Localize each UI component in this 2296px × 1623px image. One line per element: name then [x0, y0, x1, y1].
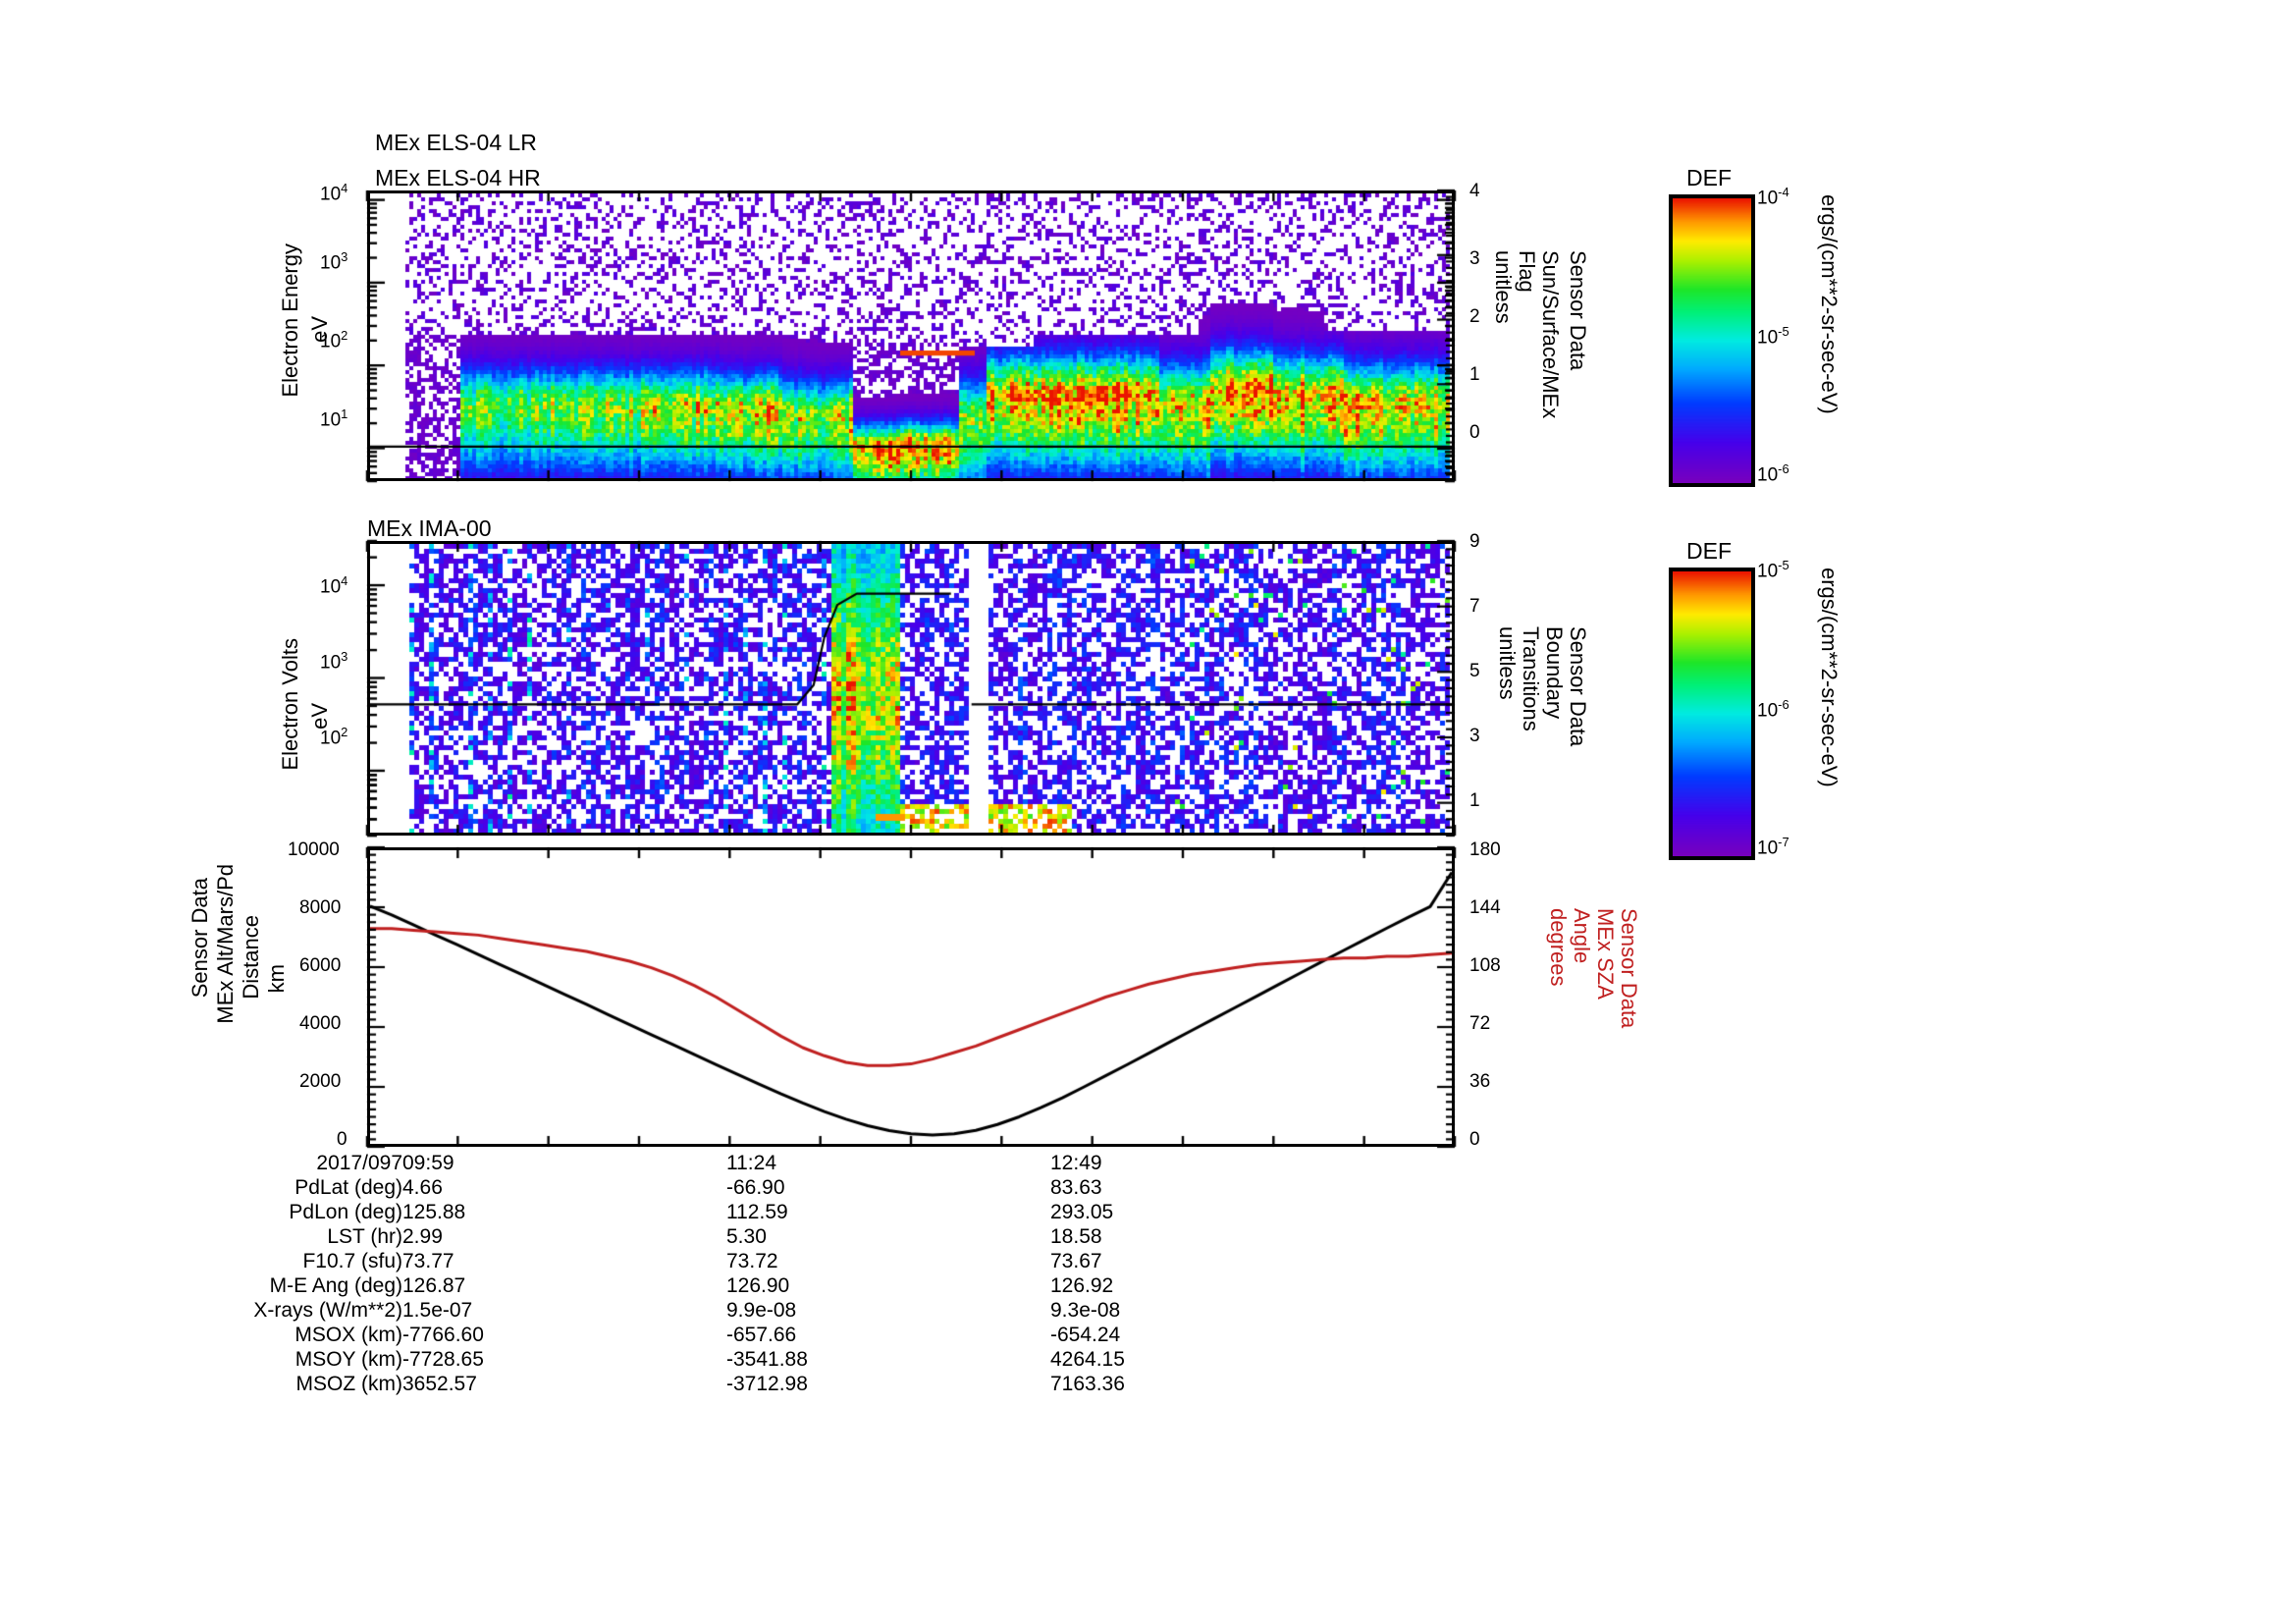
- colorbar1-title: DEF: [1686, 165, 1732, 191]
- table-cell: -657.66: [726, 1323, 1050, 1347]
- panel3-y2tick-144: 144: [1469, 897, 1501, 919]
- table-row: PdLat (deg)4.66-66.9083.63: [206, 1175, 1374, 1200]
- panel2-y2tick-5: 5: [1469, 661, 1480, 682]
- colorbar2-min-label: 10-7: [1757, 835, 1789, 859]
- table-row: PdLon (deg)125.88112.59293.05: [206, 1200, 1374, 1224]
- panel2-title: MEx IMA-00: [367, 515, 492, 542]
- table-cell: 2.99: [402, 1224, 726, 1249]
- panel3-y2label-line3: Angle: [1571, 908, 1593, 963]
- panel3-y2tick-36: 36: [1469, 1071, 1490, 1093]
- table-row-label: PdLon (deg): [206, 1200, 402, 1224]
- table-row: 2017/09709:5911:2412:49: [206, 1151, 1374, 1175]
- colorbar2-units: ergs/(cm**2-sr-sec-eV): [1818, 568, 1841, 787]
- panel3-y2tick-0: 0: [1469, 1129, 1480, 1151]
- panel1-y2label-line2: Sun/Surface/MEx: [1539, 250, 1562, 418]
- table-cell: 73.72: [726, 1249, 1050, 1273]
- panel2-y2tick-9: 9: [1469, 531, 1480, 553]
- table-cell: 1.5e-07: [402, 1298, 726, 1323]
- table-cell: 9.3e-08: [1050, 1298, 1374, 1323]
- table-cell: 09:59: [402, 1151, 726, 1175]
- panel2-y2tick-3: 3: [1469, 726, 1480, 747]
- colorbar2-mid-label: 10-6: [1757, 697, 1789, 722]
- table-row-label: M-E Ang (deg): [206, 1273, 402, 1298]
- panel3-ytick-4000: 4000: [299, 1013, 341, 1035]
- table-row-label: LST (hr): [206, 1224, 402, 1249]
- panel3-ylabel-line1: Sensor Data: [188, 878, 211, 998]
- panel2-ylabel-line1: Electron Volts: [279, 638, 301, 771]
- panel1-y2label-line1: Sensor Data: [1567, 250, 1589, 370]
- panel3-y2label-line4: degrees: [1547, 908, 1570, 987]
- panel2-y2label-line1: Sensor Data: [1567, 626, 1589, 746]
- table-cell: 125.88: [402, 1200, 726, 1224]
- panel2-y2label-line4: unitless: [1496, 626, 1519, 700]
- table-row: MSOZ (km)3652.57-3712.987163.36: [206, 1372, 1374, 1396]
- panel3-y2tick-180: 180: [1469, 839, 1501, 861]
- colorbar1-max-label: 10-4: [1757, 185, 1789, 209]
- colorbar1-gradient: [1669, 194, 1755, 487]
- table-row-label: F10.7 (sfu): [206, 1249, 402, 1273]
- panel3-ytick-2000: 2000: [299, 1071, 341, 1093]
- table-cell: 293.05: [1050, 1200, 1374, 1224]
- table-row: M-E Ang (deg)126.87126.90126.92: [206, 1273, 1374, 1298]
- panel2-ytick-1e2: 102: [320, 725, 347, 749]
- table-cell: 4.66: [402, 1175, 726, 1200]
- panel3-line-plot: [370, 850, 1452, 1144]
- colorbar2-title: DEF: [1686, 538, 1732, 565]
- table-cell: 11:24: [726, 1151, 1050, 1175]
- table-row-label: MSOY (km): [206, 1347, 402, 1372]
- table-cell: 73.77: [402, 1249, 726, 1273]
- panel1-ytick-1e1: 101: [320, 406, 347, 431]
- panel2-y2label-line2: Boundary: [1543, 626, 1566, 719]
- panel2-ytick-1e4: 104: [320, 573, 347, 598]
- table-row: LST (hr)2.995.3018.58: [206, 1224, 1374, 1249]
- colorbar1-min-label: 10-6: [1757, 461, 1789, 486]
- table-cell: 5.30: [726, 1224, 1050, 1249]
- table-cell: 126.90: [726, 1273, 1050, 1298]
- table-cell: 3652.57: [402, 1372, 726, 1396]
- panel3-ytick-0: 0: [337, 1129, 347, 1151]
- panel3-ylabel-line2: MEx Alt/Mars/Pd: [214, 864, 237, 1024]
- table-cell: 73.67: [1050, 1249, 1374, 1273]
- panel1-ylabel-line1: Electron Energy: [279, 243, 301, 398]
- table-row-label: MSOZ (km): [206, 1372, 402, 1396]
- panel3-y2label-line1: Sensor Data: [1618, 908, 1640, 1028]
- table-cell: 83.63: [1050, 1175, 1374, 1200]
- panel3-y2tick-108: 108: [1469, 955, 1501, 977]
- table-cell: -3712.98: [726, 1372, 1050, 1396]
- table-cell: -654.24: [1050, 1323, 1374, 1347]
- table-cell: 4264.15: [1050, 1347, 1374, 1372]
- panel2-spectrogram: [370, 544, 1452, 833]
- colorbar1-mid-label: 10-5: [1757, 324, 1789, 349]
- table-cell: 112.59: [726, 1200, 1050, 1224]
- panel3-ytick-10000: 10000: [288, 839, 340, 861]
- panel3-y2label-line2: MEx SZA: [1594, 908, 1617, 1000]
- panel3-y2tick-72: 72: [1469, 1013, 1490, 1035]
- panel1-y2tick-3: 3: [1469, 248, 1480, 270]
- table-cell: -7766.60: [402, 1323, 726, 1347]
- table-row-label: MSOX (km): [206, 1323, 402, 1347]
- table-row-label: X-rays (W/m**2): [206, 1298, 402, 1323]
- table-row: F10.7 (sfu)73.7773.7273.67: [206, 1249, 1374, 1273]
- panel2-y2tick-1: 1: [1469, 790, 1480, 812]
- colorbar2-max-label: 10-5: [1757, 558, 1789, 582]
- panel1-y2tick-0: 0: [1469, 422, 1480, 444]
- table-row: X-rays (W/m**2)1.5e-079.9e-089.3e-08: [206, 1298, 1374, 1323]
- panel1-title-hr: MEx ELS-04 HR: [375, 165, 541, 191]
- panel1-y2tick-2: 2: [1469, 306, 1480, 328]
- panel3-ylabel-line4: km: [265, 964, 288, 993]
- table-cell: -66.90: [726, 1175, 1050, 1200]
- panel1-y2tick-4: 4: [1469, 181, 1480, 202]
- table-cell: 126.87: [402, 1273, 726, 1298]
- table-row: MSOX (km)-7766.60-657.66-654.24: [206, 1323, 1374, 1347]
- panel1-spectrogram: [370, 193, 1452, 478]
- panel1-title-lr: MEx ELS-04 LR: [375, 130, 537, 156]
- table-cell: 126.92: [1050, 1273, 1374, 1298]
- colorbar2-gradient: [1669, 568, 1755, 860]
- table-cell: 9.9e-08: [726, 1298, 1050, 1323]
- table-cell: 18.58: [1050, 1224, 1374, 1249]
- panel2-y2tick-7: 7: [1469, 596, 1480, 618]
- table-cell: -7728.65: [402, 1347, 726, 1372]
- panel1-y2label-line4: unitless: [1492, 250, 1515, 324]
- panel3-ytick-8000: 8000: [299, 897, 341, 919]
- table-cell: 12:49: [1050, 1151, 1374, 1175]
- panel2-ytick-1e3: 103: [320, 649, 347, 674]
- panel1-y2label-line3: Flag: [1516, 250, 1538, 293]
- info-table: 2017/09709:5911:2412:49PdLat (deg)4.66-6…: [206, 1151, 1374, 1396]
- table-row-label: PdLat (deg): [206, 1175, 402, 1200]
- table-cell: 7163.36: [1050, 1372, 1374, 1396]
- table-cell: -3541.88: [726, 1347, 1050, 1372]
- colorbar1-units: ergs/(cm**2-sr-sec-eV): [1818, 194, 1841, 414]
- panel1-ytick-1e4: 104: [320, 181, 347, 205]
- panel1-ytick-1e3: 103: [320, 249, 347, 274]
- table-row-label: 2017/097: [206, 1151, 402, 1175]
- panel1-ytick-1e2: 102: [320, 328, 347, 352]
- table-row: MSOY (km)-7728.65-3541.884264.15: [206, 1347, 1374, 1372]
- panel1-y2tick-1: 1: [1469, 364, 1480, 386]
- panel3-ytick-6000: 6000: [299, 955, 341, 977]
- panel3-ylabel-line3: Distance: [240, 915, 262, 1000]
- panel2-y2label-line3: Transitions: [1520, 626, 1542, 731]
